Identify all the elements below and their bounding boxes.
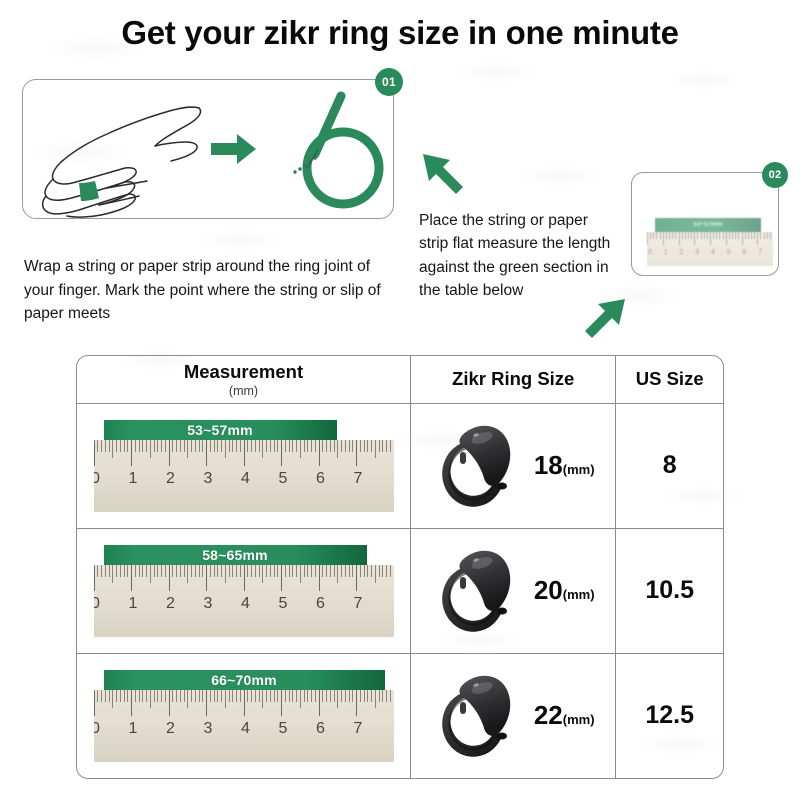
finger-band-marker — [79, 181, 99, 201]
us-size-value: 8 — [616, 451, 723, 480]
ruler-tick-label: 2 — [166, 595, 175, 613]
cell-zikr-ring-size: 18(mm) — [411, 403, 616, 528]
column-header-measurement: Measurement (mm) — [77, 356, 411, 403]
ruler-tick-label: 2 — [166, 470, 175, 488]
green-bar-label: 58~65mm — [202, 547, 268, 563]
ruler-tick-label: 1 — [129, 720, 138, 738]
ruler-tick-label: 7 — [354, 595, 363, 613]
ruler-tick-label: 7 — [354, 470, 363, 488]
ring-size-unit: (mm) — [563, 712, 595, 727]
green-bar-label: 53~57mm — [187, 422, 253, 438]
us-size-value: 12.5 — [616, 701, 723, 730]
zikr-ring-product-image — [432, 666, 528, 766]
ruler-tick-label: 0 — [94, 720, 100, 738]
table-row: 53~57mm0123456718(mm)8 — [77, 403, 723, 528]
mini-ruler-photo: 01234567 — [647, 232, 773, 266]
arrow-down-right-icon — [417, 148, 473, 204]
step-01-card: 01 — [22, 79, 394, 219]
arrow-right-icon — [209, 132, 259, 166]
zikr-ring-product-image — [432, 541, 528, 641]
ring-size-unit: (mm) — [563, 462, 595, 477]
green-measure-bar: 53~57mm — [104, 420, 337, 440]
ruler-tick-label: 7 — [354, 720, 363, 738]
step-02-caption: Place the string or paper strip flat mea… — [419, 209, 619, 302]
ruler-tick-label: 4 — [241, 470, 250, 488]
ring-size-value: 18 — [534, 450, 563, 480]
step-01-caption: Wrap a string or paper strip around the … — [24, 255, 402, 326]
table-row: 66~70mm0123456722(mm)12.5 — [77, 653, 723, 778]
ring-size-unit: (mm) — [563, 587, 595, 602]
arrow-down-left-icon — [575, 296, 631, 346]
ruler-tick-label: 6 — [316, 470, 325, 488]
cell-zikr-ring-size: 22(mm) — [411, 653, 616, 778]
cell-us-size: 12.5 — [616, 653, 723, 778]
ruler-tick-label: 6 — [316, 720, 325, 738]
ruler-graphic: 01234567 — [94, 565, 394, 637]
ruler-tick-label: 4 — [241, 595, 250, 613]
ruler-tick-label: 1 — [129, 470, 138, 488]
green-measure-bar: 58~65mm — [104, 545, 367, 565]
step-02-card: 02 53~57mm 01234567 — [631, 172, 779, 276]
table-header-row: Measurement (mm) Zikr Ring Size US Size — [77, 356, 723, 403]
page-title: Get your zikr ring size in one minute — [0, 14, 800, 52]
ruler-tick-label: 6 — [316, 595, 325, 613]
hand-illustration — [33, 88, 223, 218]
cell-measurement: 53~57mm01234567 — [77, 403, 411, 528]
cell-measurement: 58~65mm01234567 — [77, 528, 411, 653]
green-bar-label: 66~70mm — [211, 672, 277, 688]
ruler-tick-label: 4 — [241, 720, 250, 738]
zikr-ring-product-image — [432, 416, 528, 516]
ruler-tick-label: 0 — [94, 470, 100, 488]
cell-us-size: 10.5 — [616, 528, 723, 653]
size-table: Measurement (mm) Zikr Ring Size US Size … — [76, 355, 724, 779]
ruler-tick-label: 3 — [204, 595, 213, 613]
table-row: 58~65mm0123456720(mm)10.5 — [77, 528, 723, 653]
ruler-tick-label: 1 — [129, 595, 138, 613]
ring-size-value: 20 — [534, 575, 563, 605]
column-header-zikr-ring-size: Zikr Ring Size — [411, 356, 616, 403]
ruler-tick-label: 5 — [279, 720, 288, 738]
mini-green-bar-label: 53~57mm — [694, 222, 723, 228]
string-loop-illustration — [285, 84, 401, 216]
ruler-tick-label: 3 — [204, 720, 213, 738]
cell-us-size: 8 — [616, 403, 723, 528]
cell-zikr-ring-size: 20(mm) — [411, 528, 616, 653]
ruler-graphic: 01234567 — [94, 440, 394, 512]
ruler-tick-label: 5 — [279, 470, 288, 488]
ruler-tick-label: 0 — [94, 595, 100, 613]
size-guide-page: Get your zikr ring size in one minute 01 — [0, 0, 800, 800]
ruler-tick-label: 2 — [166, 720, 175, 738]
cell-measurement: 66~70mm01234567 — [77, 653, 411, 778]
column-header-us-size: US Size — [616, 356, 723, 403]
ruler-tick-label: 3 — [204, 470, 213, 488]
mini-green-measure-bar: 53~57mm — [655, 218, 761, 232]
us-size-value: 10.5 — [616, 576, 723, 605]
green-measure-bar: 66~70mm — [104, 670, 385, 690]
ruler-graphic: 01234567 — [94, 690, 394, 762]
ruler-tick-label: 5 — [279, 595, 288, 613]
ring-size-value: 22 — [534, 700, 563, 730]
